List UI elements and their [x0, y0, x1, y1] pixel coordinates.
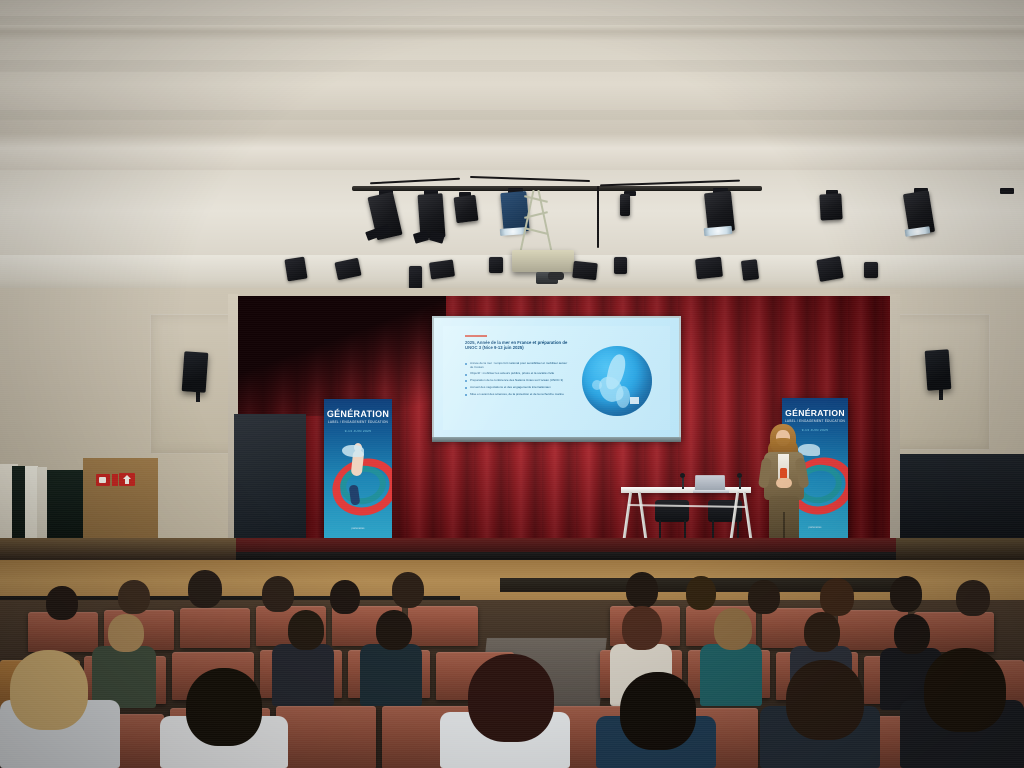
audience-head	[620, 672, 696, 750]
audience-torso	[92, 646, 156, 708]
audience-head	[748, 580, 780, 614]
stage-spotlight	[572, 261, 598, 280]
seat	[276, 706, 376, 768]
stage-spotlight	[284, 257, 307, 282]
audience-head	[956, 580, 990, 616]
chair-leg	[659, 520, 661, 540]
presenter	[758, 424, 810, 556]
stage-spotlight	[489, 257, 503, 273]
slide-bullet: Objectif : mobiliser les acteurs publics…	[465, 372, 571, 376]
slide-bullet: Mise en avant des sciences, de la protec…	[465, 393, 571, 397]
audience-head	[288, 610, 324, 650]
spotlight-yoke	[1000, 188, 1014, 194]
audience-head	[890, 576, 922, 612]
proscenium-right	[890, 294, 900, 556]
banner-title: GÉNÉRATION	[324, 409, 392, 419]
audience-head	[924, 648, 1006, 732]
fire-extinguisher-sign	[96, 474, 110, 486]
microphone-head-icon	[737, 473, 742, 478]
audience-torso	[700, 644, 762, 706]
banner-subtitle: LABEL / ENGAGEMENT ÉDUCATION	[324, 420, 392, 424]
wall-speaker-left	[182, 351, 209, 393]
audience-head	[330, 580, 360, 614]
wall-speaker-right	[925, 349, 952, 391]
ceiling-projector	[512, 250, 574, 272]
seat	[408, 606, 478, 646]
stage-spotlight	[695, 257, 723, 280]
slide-bullet: Préparation de la conférence des Nations…	[465, 379, 571, 383]
stage-spotlight	[453, 195, 478, 223]
sign-divider	[112, 474, 118, 486]
projection-screen: 2025, Année de la mer en France et prépa…	[434, 318, 679, 438]
banner-artwork	[324, 439, 392, 523]
stage-spotlight	[409, 266, 422, 289]
stage-spotlight	[614, 257, 627, 274]
projector-scissor-lift	[520, 190, 560, 252]
microphone-head-icon	[680, 473, 685, 478]
audience-head	[714, 608, 752, 650]
chair-leg	[684, 520, 686, 540]
ceiling-beam	[0, 60, 1024, 72]
audience-head	[686, 576, 716, 610]
audience-head	[392, 572, 424, 608]
auditorium-photo: 2025, Année de la mer en France et prépa…	[0, 0, 1024, 768]
slide-kicker-rule	[465, 335, 487, 337]
stage-spotlight	[741, 259, 759, 281]
stage-spotlight	[429, 259, 455, 279]
audience-head	[626, 572, 658, 608]
audience-head	[468, 654, 554, 742]
audience-head	[118, 580, 150, 614]
chair-leg	[737, 520, 739, 540]
audience-head	[376, 610, 412, 650]
ceiling-beam	[0, 16, 1024, 25]
stage-spotlight	[819, 193, 842, 220]
banner-footer: partenaires	[324, 527, 392, 530]
screen-bottom-bar	[432, 437, 681, 442]
ceiling	[0, 0, 1024, 185]
audience-torso	[360, 644, 422, 706]
stage-spotlight	[864, 262, 878, 278]
audience-head	[820, 578, 854, 616]
microphone-stand	[682, 477, 684, 489]
chair-leg	[712, 520, 714, 540]
slide-bullet-list: Année de la mer : temps fort national po…	[465, 362, 571, 400]
exit-arrow-sign	[119, 473, 135, 486]
presentation-slide: 2025, Année de la mer en France et prépa…	[443, 326, 670, 430]
ocean-globe-image	[582, 346, 652, 416]
audience-head	[622, 606, 662, 650]
projector-lens-icon	[548, 272, 564, 280]
slide-bullet: Année de la mer : temps fort national po…	[465, 362, 571, 369]
audience-head	[186, 668, 262, 746]
laptop-screen	[695, 475, 725, 491]
audience-head	[894, 614, 930, 654]
rollup-banner-left: GÉNÉRATION LABEL / ENGAGEMENT ÉDUCATION …	[324, 399, 392, 545]
stage-floor-left	[0, 538, 236, 560]
audience-head	[108, 614, 144, 652]
audience-head	[188, 570, 222, 608]
audience-head	[804, 612, 840, 652]
audience-torso	[272, 644, 334, 706]
slide-logo-badge	[630, 397, 639, 404]
laptop-base	[693, 490, 729, 493]
banner-dates: 9-13 JUIN 2025	[324, 429, 392, 433]
banner-subtitle: LABEL / ENGAGEMENT ÉDUCATION	[782, 419, 848, 423]
audience-head	[262, 576, 294, 612]
seat	[180, 608, 250, 648]
curtain-top-mask	[236, 296, 446, 416]
ceiling-beam	[0, 110, 1024, 120]
slide-bullet: Accueil des négociations et des engageme…	[465, 386, 571, 390]
banner-title: GÉNÉRATION	[782, 408, 848, 418]
stage-chair	[655, 500, 689, 522]
audience-head	[10, 650, 88, 730]
audience-head	[786, 660, 864, 740]
stage-spotlight	[816, 256, 843, 282]
stage-spotlight	[620, 194, 630, 216]
stage-flat-left	[234, 414, 306, 538]
projector-cable	[597, 186, 599, 248]
stage-floor-right	[896, 538, 1024, 560]
slide-title: 2025, Année de la mer en France et prépa…	[465, 340, 569, 351]
presenter-hands	[776, 478, 792, 488]
microphone-stand	[739, 477, 741, 489]
audience-head	[46, 586, 78, 620]
